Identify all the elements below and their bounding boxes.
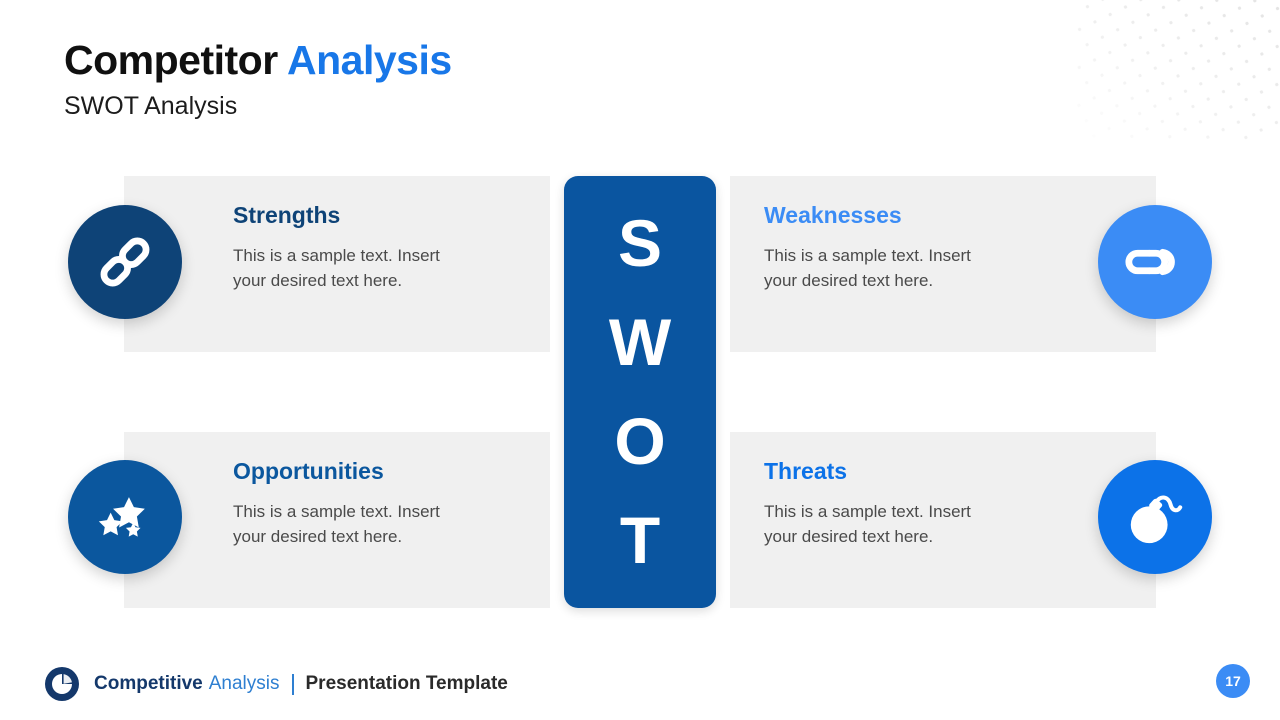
footer-divider — [292, 674, 294, 695]
pie-chart-logo-icon — [44, 666, 80, 702]
footer-competitive-label: Competitive — [94, 673, 203, 695]
opportunities-body: This is a sample text. Insert your desir… — [233, 499, 440, 550]
weaknesses-body: This is a sample text. Insert your desir… — [764, 243, 971, 294]
opportunities-title: Opportunities — [233, 458, 440, 486]
swot-center-column: S W O T — [564, 176, 716, 608]
swot-letter-w: W — [609, 311, 671, 374]
threats-icon-circle[interactable] — [1098, 460, 1212, 574]
page-title-main: Competitor — [64, 37, 278, 83]
slide-footer: Competitive Analysis Presentation Templa… — [44, 666, 508, 702]
threats-body: This is a sample text. Insert your desir… — [764, 499, 971, 550]
broken-chain-link-icon — [1124, 231, 1186, 293]
opportunities-icon-circle[interactable] — [68, 460, 182, 574]
page-subtitle: SWOT Analysis — [64, 91, 452, 121]
dot-pattern-decoration — [1076, 0, 1280, 140]
footer-template-label: Presentation Template — [306, 673, 508, 695]
footer-analysis-label: Analysis — [209, 673, 280, 695]
swot-letter-o: O — [614, 410, 665, 473]
strengths-text-block: Strengths This is a sample text. Insert … — [233, 202, 440, 294]
weaknesses-text-block: Weaknesses This is a sample text. Insert… — [764, 202, 971, 294]
footer-text: Competitive Analysis Presentation Templa… — [94, 673, 508, 695]
page-title: Competitor Analysis — [64, 38, 452, 84]
swot-letter-t: T — [620, 509, 660, 572]
swot-letter-s: S — [618, 212, 662, 275]
slide-root: Competitor Analysis SWOT Analysis Streng… — [0, 0, 1280, 720]
strengths-title: Strengths — [233, 202, 440, 230]
weaknesses-icon-circle[interactable] — [1098, 205, 1212, 319]
chain-link-icon — [94, 231, 156, 293]
three-stars-icon — [94, 486, 156, 548]
threats-text-block: Threats This is a sample text. Insert yo… — [764, 458, 971, 550]
threats-title: Threats — [764, 458, 971, 486]
weaknesses-title: Weaknesses — [764, 202, 971, 230]
page-title-accent: Analysis — [287, 37, 452, 83]
strengths-icon-circle[interactable] — [68, 205, 182, 319]
bomb-icon — [1124, 486, 1186, 548]
page-number-badge: 17 — [1216, 664, 1250, 698]
opportunities-text-block: Opportunities This is a sample text. Ins… — [233, 458, 440, 550]
strengths-body: This is a sample text. Insert your desir… — [233, 243, 440, 294]
slide-header: Competitor Analysis SWOT Analysis — [64, 38, 452, 121]
